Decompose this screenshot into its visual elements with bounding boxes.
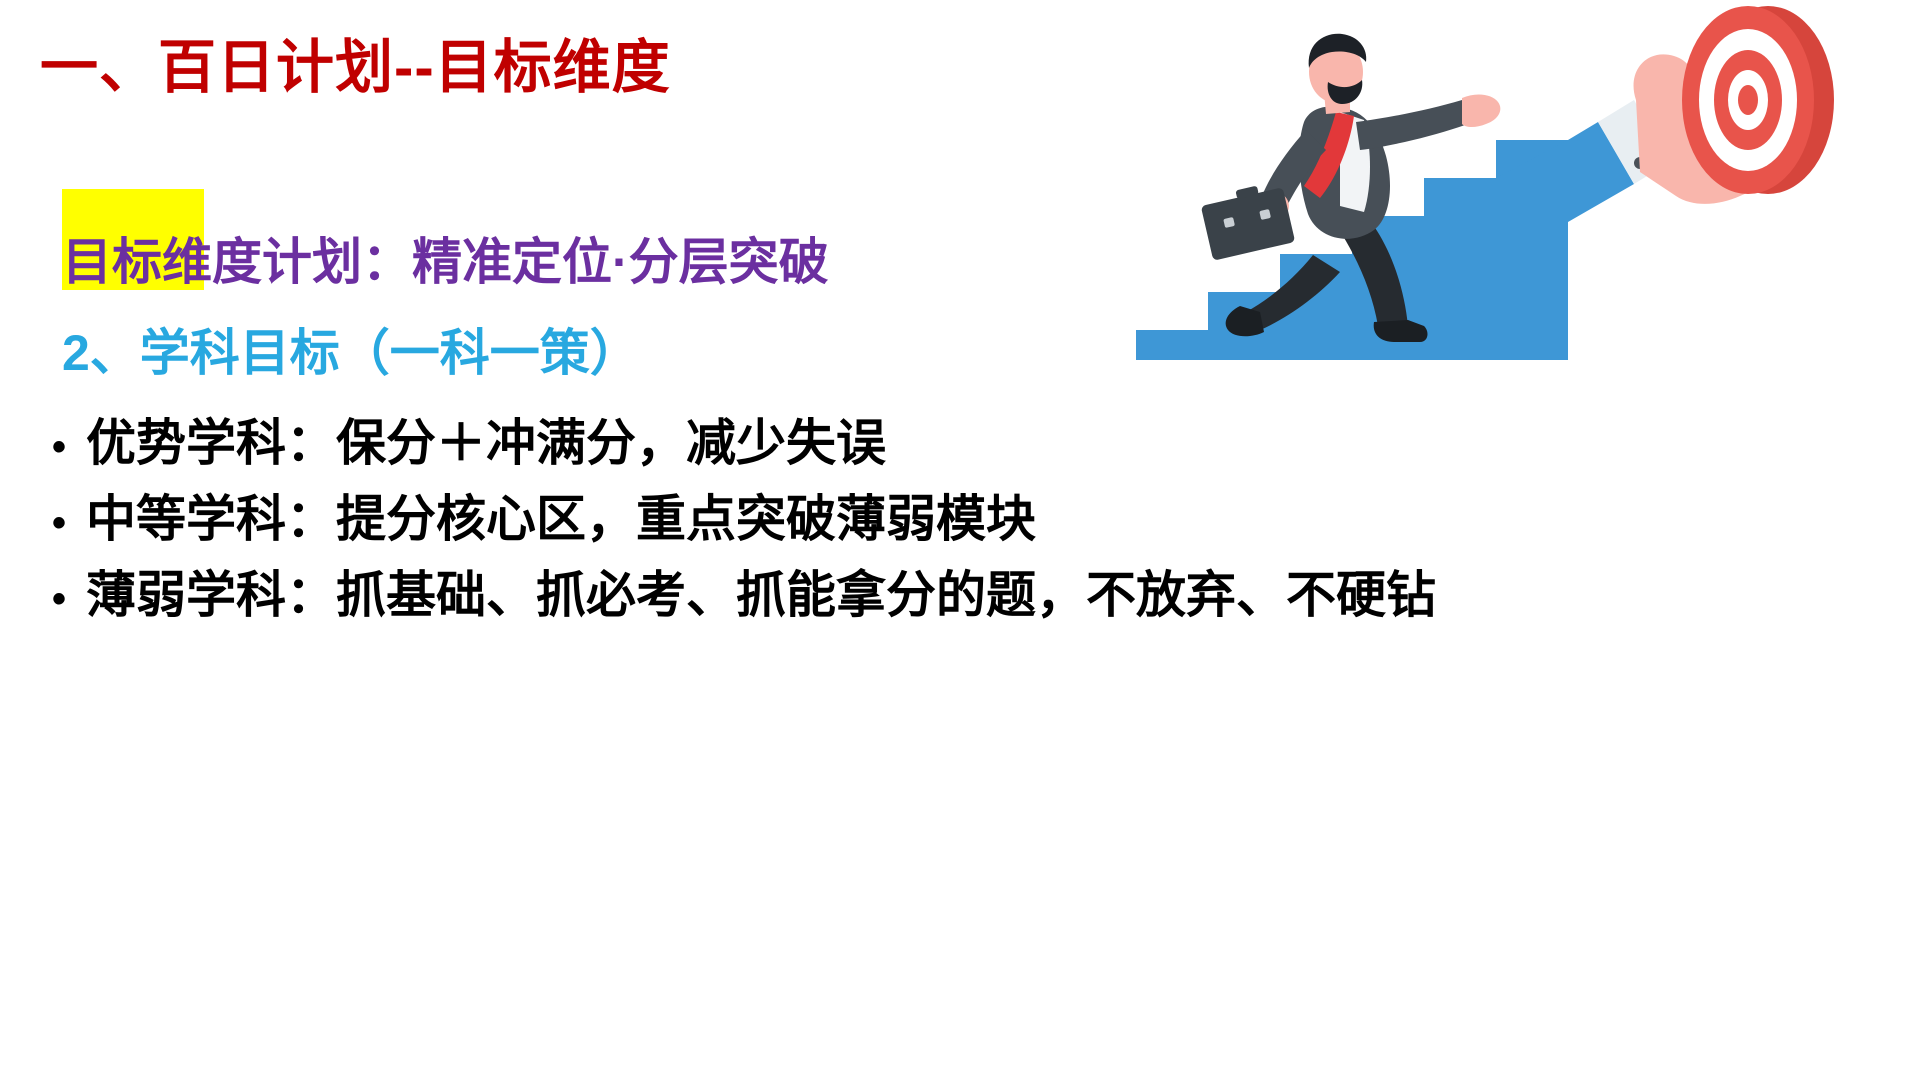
list-item-label: 中等学科：提分核心区，重点突破薄弱模块: [86, 481, 1036, 557]
list-item: • 薄弱学科：抓基础、抓必考、抓能拿分的题，不放弃、不硬钻: [52, 557, 1572, 633]
bullet-dot-icon: •: [52, 503, 86, 543]
illustration-businessman-target: [1128, 0, 1920, 400]
target-icon: [1682, 6, 1834, 194]
list-item-label: 优势学科：保分＋冲满分，减少失误: [86, 405, 886, 481]
reaching-hand-icon: [1462, 95, 1500, 127]
list-item: • 优势学科：保分＋冲满分，减少失误: [52, 405, 1572, 481]
purple-heading-text: 目标维度计划：精准定位·分层突破: [62, 234, 829, 290]
bullet-list: • 优势学科：保分＋冲满分，减少失误 • 中等学科：提分核心区，重点突破薄弱模块…: [52, 405, 1572, 633]
bullet-dot-icon: •: [52, 579, 86, 619]
list-item-label: 薄弱学科：抓基础、抓必考、抓能拿分的题，不放弃、不硬钻: [86, 557, 1436, 633]
slide-canvas: 一、百日计划--目标维度 目标维度计划：精准定位·分层突破 2、学科目标（一科一…: [0, 0, 1920, 1080]
page-title: 一、百日计划--目标维度: [40, 36, 671, 100]
bullet-dot-icon: •: [52, 427, 86, 467]
briefcase-icon: [1201, 186, 1295, 261]
list-item: • 中等学科：提分核心区，重点突破薄弱模块: [52, 481, 1572, 557]
blue-subheading: 2、学科目标（一科一策）: [62, 323, 640, 383]
purple-heading: 目标维度计划：精准定位·分层突破: [62, 232, 829, 292]
